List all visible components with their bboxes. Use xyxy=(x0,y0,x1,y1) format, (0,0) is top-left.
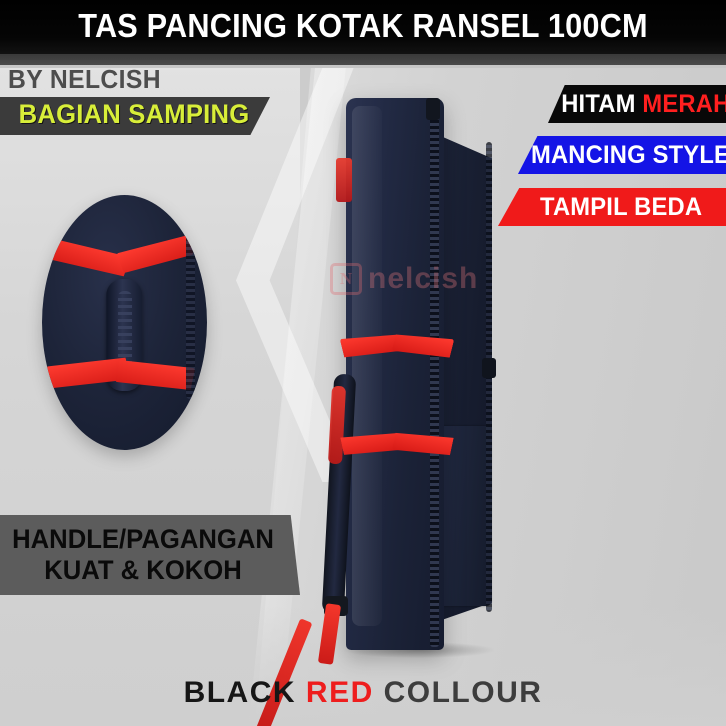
page-title: TAS PANCING KOTAK RANSEL 100CM xyxy=(25,7,700,45)
caption-word-red: RED xyxy=(306,676,374,709)
red-bow-strap-lower xyxy=(342,426,454,460)
zipper-pull-top xyxy=(426,98,440,120)
main-product-photo xyxy=(318,96,523,666)
inset-red-strap-top-right xyxy=(116,227,194,282)
inset-zipper-seam xyxy=(186,226,195,399)
badge-mancing-style-text: MANCING STYLE xyxy=(522,141,726,170)
badge-tampil-beda-text: TAMPIL BEDA xyxy=(530,193,702,222)
main-zipper xyxy=(430,102,439,647)
caption-word-black: BLACK xyxy=(184,676,297,709)
bag-fabric-sheen xyxy=(352,106,382,626)
red-bow-strap-upper xyxy=(342,328,454,362)
badge-hitam-merah-text: HITAM MERAH xyxy=(552,90,726,119)
bow-lower-right-wing xyxy=(392,424,454,461)
badge-mancing-style: MANCING STYLE xyxy=(518,136,726,174)
badge-hitam-merah: HITAM MERAH xyxy=(548,85,726,123)
caption-word-collour: COLLOUR xyxy=(384,676,543,709)
bow-upper-left-wing xyxy=(340,326,401,365)
badge-merah-word: MERAH xyxy=(642,90,726,118)
hanging-red-strap-upper xyxy=(318,603,341,665)
feature-banner-line-1: HANDLE/PAGANGAN xyxy=(7,524,279,555)
brand-byline: BY NELCISH xyxy=(8,64,161,95)
feature-banner-line-2: KUAT & KOKOH xyxy=(7,555,279,586)
bow-upper-right-wing xyxy=(392,325,455,364)
red-trim-top xyxy=(336,158,352,202)
zipper-pull-middle xyxy=(482,358,496,378)
oval-inset-handle-photo xyxy=(42,195,207,450)
bow-lower-left-wing xyxy=(340,424,400,461)
badge-tampil-beda: TAMPIL BEDA xyxy=(498,188,726,226)
product-poster: N nelcish TAS PANCING KOTAK RANSEL 100CM… xyxy=(0,0,726,726)
section-banner-label: BAGIAN SAMPING xyxy=(12,99,255,130)
badge-hitam-word: HITAM xyxy=(561,90,635,118)
colour-caption: BLACK RED COLLOUR xyxy=(0,676,726,710)
